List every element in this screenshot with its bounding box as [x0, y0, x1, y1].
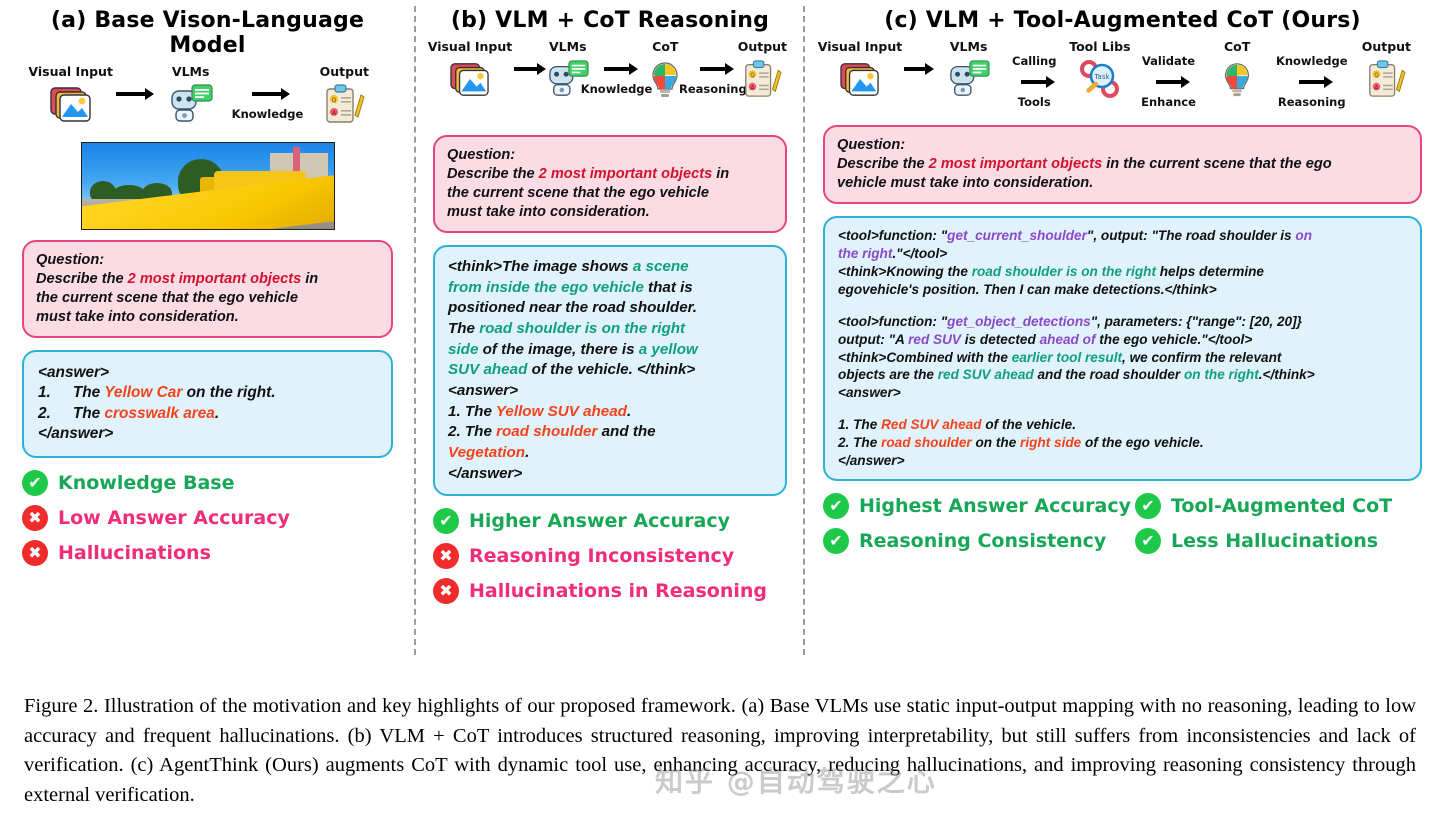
answer-open-tag: <answer>: [838, 384, 1407, 402]
tool-call-2-line-2: output: "A red SUV is detected ahead of …: [838, 331, 1407, 349]
arrow-icon: [700, 67, 726, 71]
figure-caption: Figure 2. Illustration of the motivation…: [24, 692, 1416, 810]
cross-circle-icon: ✖: [22, 540, 48, 566]
answer-item-1: 1. The Yellow SUV ahead.: [448, 402, 772, 423]
think-2-line-2: objects are the red SUV ahead and the ro…: [838, 366, 1407, 384]
pipeline-node-label: VLMs: [950, 39, 988, 54]
images-stack-icon: [449, 57, 491, 101]
checklist-label: Highest Answer Accuracy: [859, 495, 1131, 517]
think-line-2: from inside the ego vehicle that is: [448, 278, 772, 299]
checklist-label: Low Answer Accuracy: [58, 507, 290, 529]
pipeline-node-label: CoT: [1224, 39, 1250, 54]
pipeline-node-vlms: VLMs: [154, 64, 228, 126]
panels-container: (a) Base Vison-Language Model Visual Inp…: [0, 0, 1440, 665]
pipeline-arrow-3: Validate Enhance: [1140, 39, 1198, 108]
puzzle-bulb-icon: [1218, 57, 1256, 101]
think-line-5: side of the image, there is a yellow: [448, 340, 772, 361]
pipeline-node-label: VLMs: [172, 64, 210, 79]
panel-a-checklist: ✔ Knowledge Base ✖ Low Answer Accuracy ✖…: [22, 470, 393, 566]
pipeline-node-label: Visual Input: [428, 39, 513, 54]
panel-b-pipeline: Visual Input VLMs: [433, 39, 787, 111]
clipboard-qa-icon: Q A: [1365, 57, 1407, 101]
magnifier-gears-task-icon: Task: [1077, 57, 1123, 101]
svg-text:Q: Q: [332, 97, 337, 104]
checklist-label: Reasoning Consistency: [859, 530, 1106, 552]
pipeline-node-cot: CoT: [1202, 39, 1273, 101]
pipeline-node-visual-input: Visual Input: [433, 39, 507, 101]
driving-scene-photo: [81, 142, 335, 230]
cross-circle-icon: ✖: [433, 578, 459, 604]
think-1-line-2: egovehicle's position. Then I can make d…: [838, 281, 1407, 299]
pipeline-arrow-label-bottom: Reasoning: [1278, 96, 1346, 108]
checklist-item: ✖ Reasoning Inconsistency: [433, 543, 787, 569]
panel-a: (a) Base Vison-Language Model Visual Inp…: [0, 0, 415, 665]
think-1-line-1: <think>Knowing the road shoulder is on t…: [838, 263, 1407, 281]
question-line-2: the current scene that the ego vehicle: [447, 184, 773, 203]
tool-call-2-line-1: <tool>function: "get_object_detections",…: [838, 313, 1407, 331]
tool-call-1-line-2: the right."</tool>: [838, 245, 1407, 263]
pipeline-arrow-1: [901, 39, 929, 83]
question-line-1: Describe the 2 most important objects in: [447, 165, 773, 184]
panel-c-reasoning-box: <tool>function: "get_current_shoulder", …: [823, 216, 1422, 481]
checklist-label: Hallucinations: [58, 542, 211, 564]
arrow-icon: [904, 67, 926, 71]
pipeline-node-visual-input: Visual Input: [823, 39, 897, 101]
check-circle-icon: ✔: [1135, 493, 1161, 519]
reasoning-spacer-2: [838, 402, 1407, 416]
checklist-item: ✖ Hallucinations: [22, 540, 393, 566]
cross-circle-icon: ✖: [22, 505, 48, 531]
figure-root: (a) Base Vison-Language Model Visual Inp…: [0, 0, 1440, 838]
images-stack-icon: [839, 57, 881, 101]
panel-c-checklist: ✔ Highest Answer Accuracy ✔ Tool-Augment…: [823, 493, 1422, 563]
checklist-label: Tool-Augmented CoT: [1171, 495, 1392, 517]
panel-a-answer-box: <answer> 1.The Yellow Car on the right. …: [22, 350, 393, 458]
arrow-icon: [1156, 80, 1182, 84]
pipeline-arrow-1: [511, 39, 541, 83]
pipeline-node-tool-libs: Tool Libs Task: [1064, 39, 1135, 101]
pipeline-arrow-label-bottom: Enhance: [1141, 96, 1196, 108]
pipeline-arrow-3: Reasoning: [692, 39, 734, 95]
question-line-1: Describe the 2 most important objects in…: [837, 155, 1408, 174]
checklist-item: ✔ Less Hallucinations: [1135, 528, 1421, 554]
clipboard-qa-icon: Q A: [322, 82, 366, 126]
panel-b-question-box: Question: Describe the 2 most important …: [433, 135, 787, 233]
answer-close-tag: </answer>: [448, 464, 772, 485]
panel-b-title: (b) VLM + CoT Reasoning: [433, 8, 787, 33]
checklist-label: Higher Answer Accuracy: [469, 510, 730, 532]
pipeline-node-output: Output Q A: [738, 39, 787, 101]
pipeline-arrow-label-top: Knowledge: [1276, 55, 1348, 67]
answer-close-tag: </answer>: [38, 424, 377, 444]
checklist-item: ✔ Tool-Augmented CoT: [1135, 493, 1421, 519]
panel-c-pipeline: Visual Input VLMs: [823, 39, 1422, 111]
reasoning-spacer: [838, 299, 1407, 313]
panel-c: (c) VLM + Tool-Augmented CoT (Ours) Visu…: [805, 0, 1440, 665]
svg-text:Q: Q: [1375, 73, 1380, 79]
question-heading: Question:: [447, 146, 773, 165]
svg-text:A: A: [1375, 85, 1379, 91]
pipeline-node-visual-input: Visual Input: [34, 64, 108, 126]
answer-item-2: 2. The road shoulder on the right side o…: [838, 434, 1407, 452]
question-heading: Question:: [36, 251, 379, 270]
checklist-label: Less Hallucinations: [1171, 530, 1378, 552]
clipboard-qa-icon: Q A: [741, 57, 783, 101]
pipeline-node-vlms: VLMs: [933, 39, 1004, 101]
think-line-6: SUV ahead of the vehicle. </think>: [448, 360, 772, 381]
answer-item-2: 2. The road shoulder and the: [448, 422, 772, 443]
svg-text:Q: Q: [751, 73, 756, 79]
checklist-item: ✔ Reasoning Consistency: [823, 528, 1109, 554]
check-circle-icon: ✔: [433, 508, 459, 534]
think-line-3: positioned near the road shoulder.: [448, 298, 772, 319]
checklist-label: Knowledge Base: [58, 472, 234, 494]
checklist-label: Reasoning Inconsistency: [469, 545, 734, 567]
pipeline-arrow-1: [112, 64, 150, 108]
checklist-item: ✖ Hallucinations in Reasoning: [433, 578, 787, 604]
arrow-icon: [116, 92, 146, 96]
robot-chat-icon: [168, 82, 214, 126]
checklist-item: ✔ Higher Answer Accuracy: [433, 508, 787, 534]
arrow-icon: [1021, 80, 1047, 84]
images-stack-icon: [49, 82, 93, 126]
check-circle-icon: ✔: [823, 528, 849, 554]
pipeline-node-label: Output: [1362, 39, 1411, 54]
pipeline-node-label: CoT: [652, 39, 678, 54]
answer-close-tag: </answer>: [838, 452, 1407, 470]
panel-c-question-box: Question: Describe the 2 most important …: [823, 125, 1422, 204]
pipeline-node-output: Output Q A: [307, 64, 381, 126]
answer-item-1: 1.The Yellow Car on the right.: [38, 383, 377, 403]
pipeline-arrow-2: Knowledge: [232, 64, 304, 120]
checklist-item: ✖ Low Answer Accuracy: [22, 505, 393, 531]
question-line-2: the current scene that the ego vehicle: [36, 289, 379, 308]
checklist-item: ✔ Highest Answer Accuracy: [823, 493, 1109, 519]
pipeline-node-label: VLMs: [549, 39, 587, 54]
tool-call-1-line-1: <tool>function: "get_current_shoulder", …: [838, 227, 1407, 245]
pipeline-node-label: Output: [738, 39, 787, 54]
think-2-line-1: <think>Combined with the earlier tool re…: [838, 349, 1407, 367]
pipeline-arrow-label-bottom: Tools: [1018, 96, 1051, 108]
panel-a-question-box: Question: Describe the 2 most important …: [22, 240, 393, 338]
pipeline-node-label: Output: [320, 64, 369, 79]
arrow-icon: [514, 67, 538, 71]
answer-item-1: 1. The Red SUV ahead of the vehicle.: [838, 416, 1407, 434]
pipeline-arrow-label: Reasoning: [679, 83, 747, 95]
answer-item-2-cont: Vegetation.: [448, 443, 772, 464]
pipeline-arrow-label-top: Validate: [1142, 55, 1195, 67]
check-circle-icon: ✔: [1135, 528, 1161, 554]
answer-open-tag: <answer>: [38, 363, 377, 383]
arrow-icon: [604, 67, 630, 71]
panel-a-title: (a) Base Vison-Language Model: [22, 8, 393, 58]
think-line-1: <think>The image shows a scene: [448, 257, 772, 278]
svg-text:Task: Task: [1093, 73, 1110, 81]
think-line-4: The road shoulder is on the right: [448, 319, 772, 340]
pipeline-node-label: Visual Input: [818, 39, 903, 54]
svg-text:A: A: [751, 85, 755, 91]
pipeline-arrow-2: Knowledge: [595, 39, 639, 95]
checklist-item: ✔ Knowledge Base: [22, 470, 393, 496]
answer-item-2: 2.The crosswalk area.: [38, 404, 377, 424]
panel-a-pipeline: Visual Input VLMs: [22, 64, 393, 136]
arrow-icon: [1299, 80, 1325, 84]
cross-circle-icon: ✖: [433, 543, 459, 569]
checklist-label: Hallucinations in Reasoning: [469, 580, 767, 602]
question-line-2: vehicle must take into consideration.: [837, 174, 1408, 193]
arrow-icon: [252, 92, 282, 96]
robot-chat-icon: [947, 57, 991, 101]
pipeline-node-label: Visual Input: [28, 64, 113, 79]
pipeline-arrow-4: Knowledge Reasoning: [1277, 39, 1347, 108]
panel-b-reasoning-box: <think>The image shows a scene from insi…: [433, 245, 787, 496]
answer-open-tag: <answer>: [448, 381, 772, 402]
panel-b: (b) VLM + CoT Reasoning Visual Input: [415, 0, 805, 665]
question-heading: Question:: [837, 136, 1408, 155]
question-line-3: must take into consideration.: [36, 308, 379, 327]
panel-c-title: (c) VLM + Tool-Augmented CoT (Ours): [823, 8, 1422, 33]
question-line-3: must take into consideration.: [447, 203, 773, 222]
pipeline-arrow-2: Calling Tools: [1008, 39, 1060, 108]
pipeline-node-output: Output Q A: [1351, 39, 1422, 101]
question-line-1: Describe the 2 most important objects in: [36, 270, 379, 289]
panel-b-checklist: ✔ Higher Answer Accuracy ✖ Reasoning Inc…: [433, 508, 787, 604]
check-circle-icon: ✔: [22, 470, 48, 496]
pipeline-node-label: Tool Libs: [1069, 39, 1130, 54]
check-circle-icon: ✔: [823, 493, 849, 519]
pipeline-arrow-label: Knowledge: [232, 108, 304, 120]
pipeline-arrow-label-top: Calling: [1012, 55, 1056, 67]
